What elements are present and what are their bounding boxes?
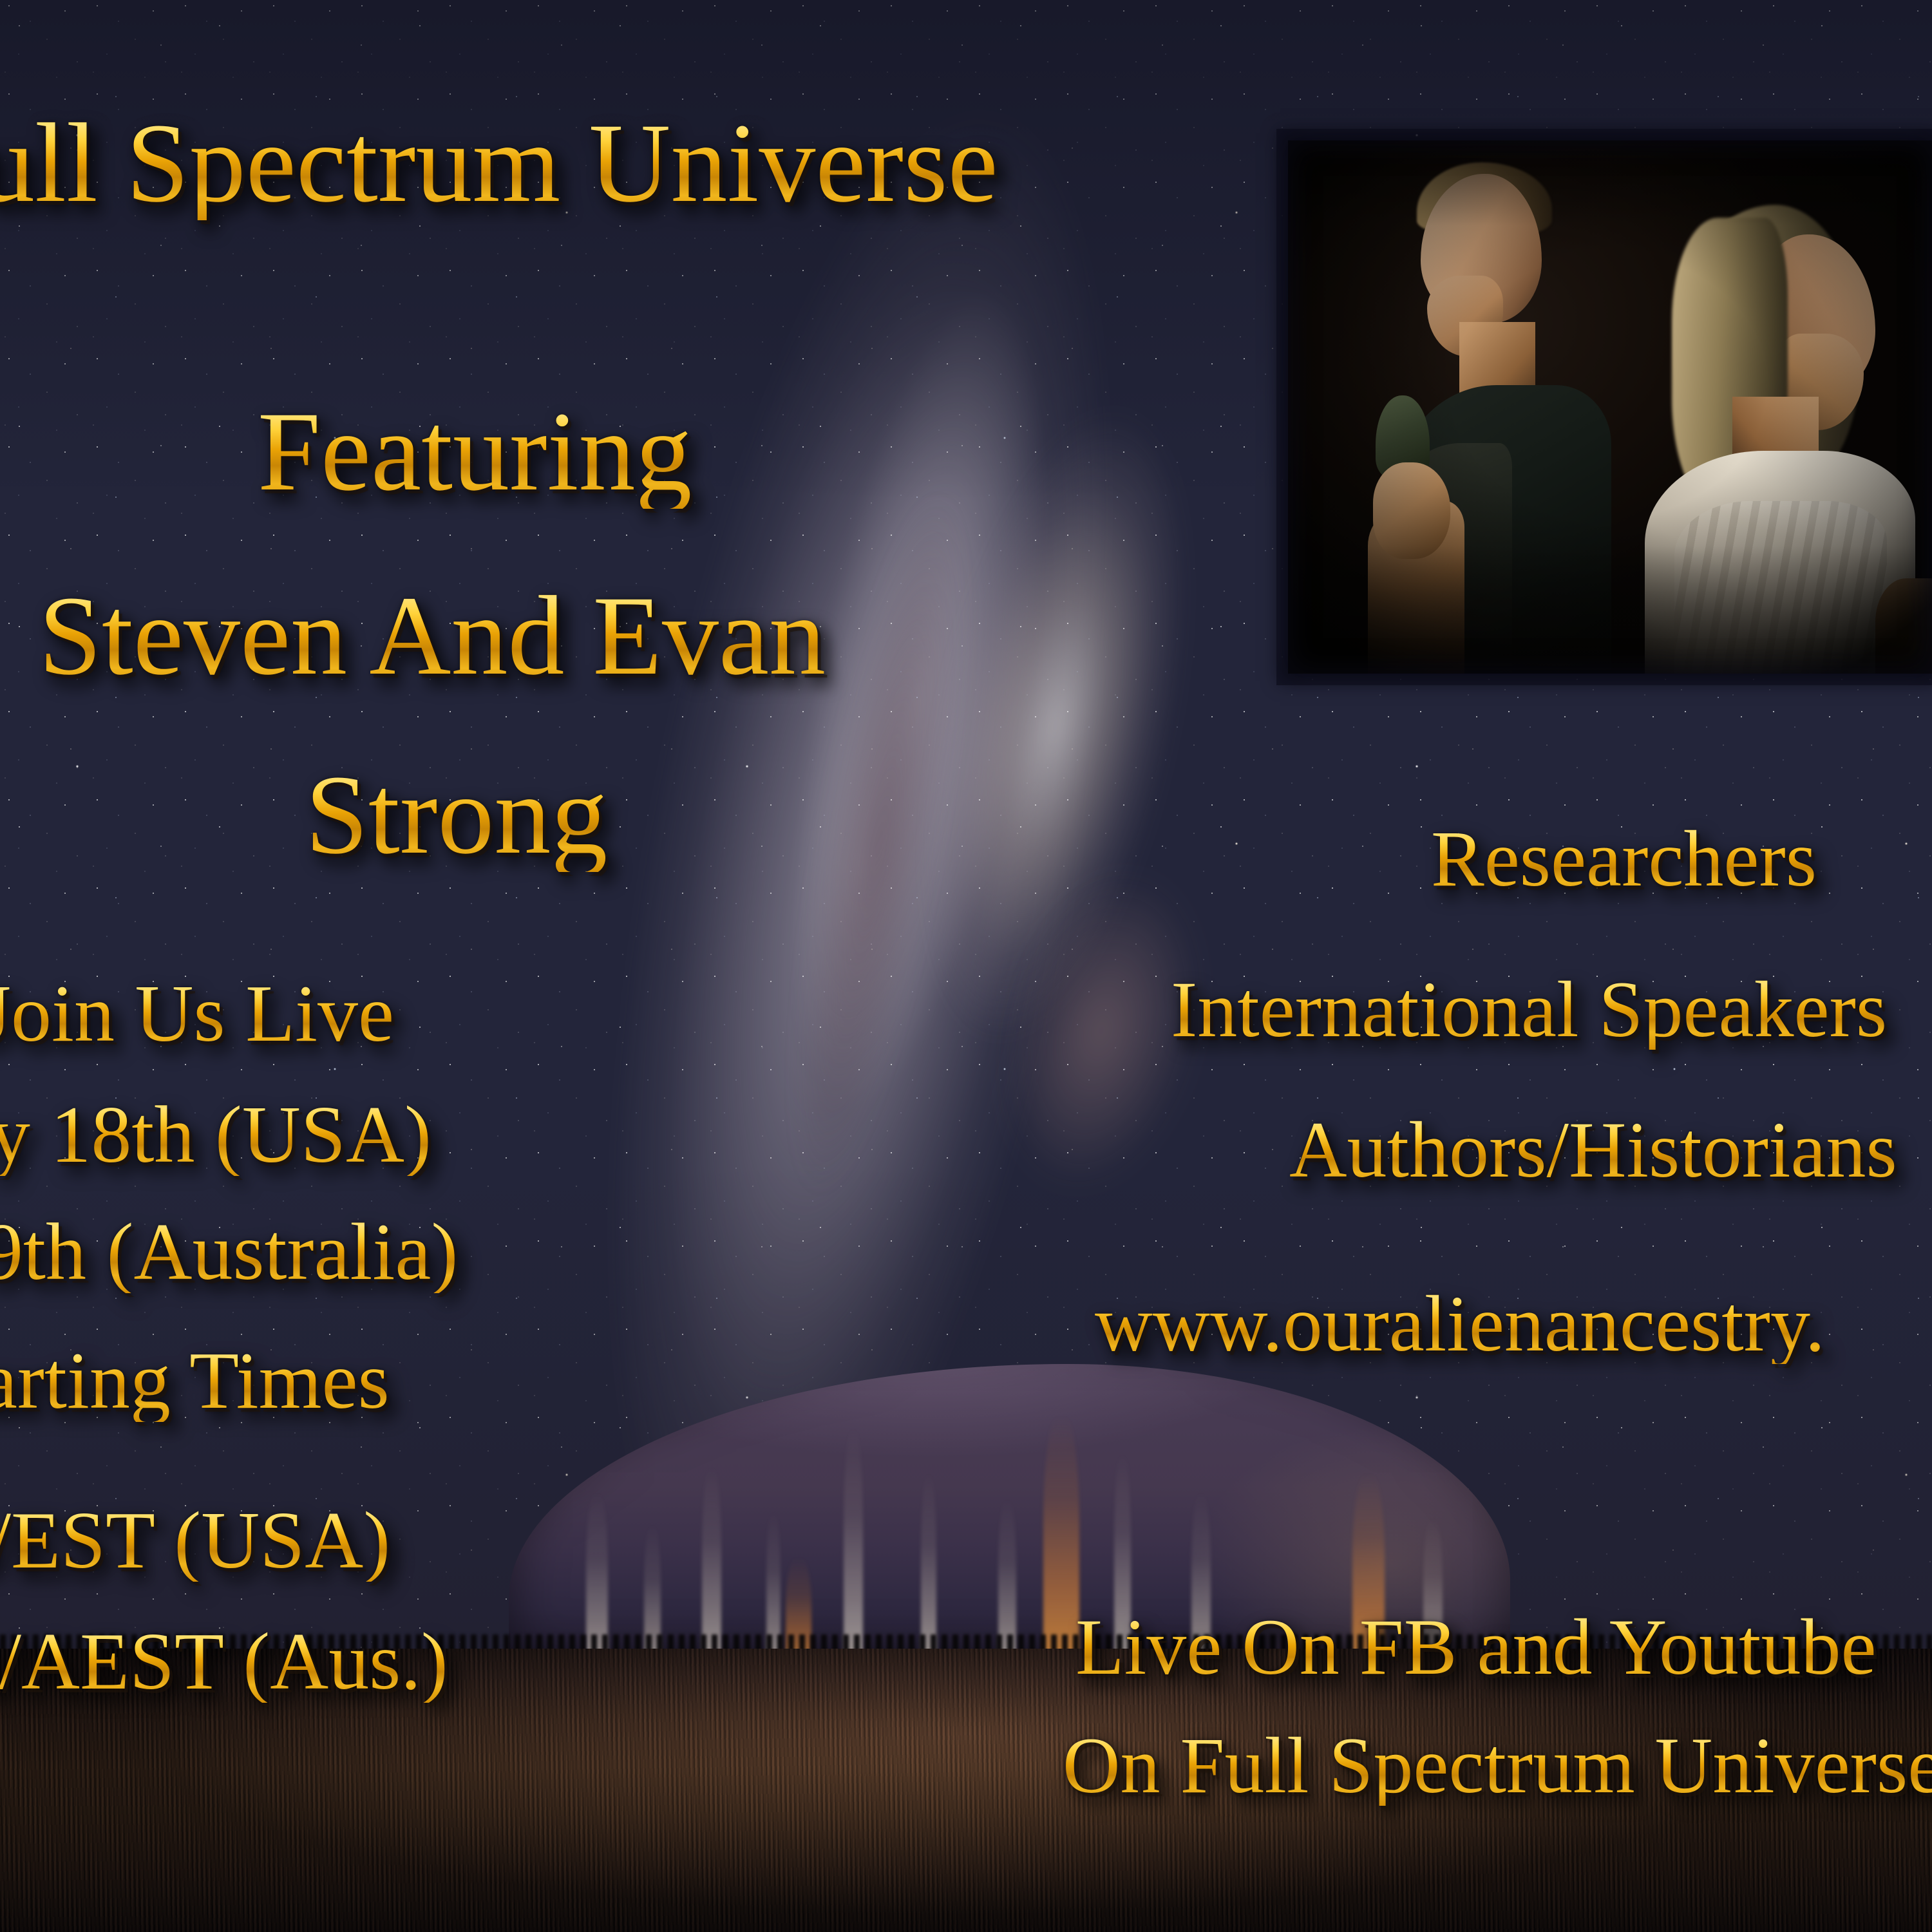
event-date-australia: 19th (Australia) — [0, 1212, 458, 1293]
join-us-live-label: Join Us Live — [0, 974, 394, 1055]
event-promo-poster: ull Spectrum Universe Featuring Steven A… — [0, 0, 1932, 1932]
credential-speakers: International Speakers — [1171, 970, 1887, 1050]
speaker-names-line-1: Steven And Evan — [39, 580, 826, 693]
event-date-usa: ay 18th (USA) — [0, 1095, 431, 1176]
speaker-names-line-2: Strong — [305, 759, 607, 872]
speaker-duo-photo — [1288, 140, 1932, 674]
broadcast-platforms: Live On FB and Youtube — [1075, 1607, 1877, 1687]
poster-title: ull Spectrum Universe — [0, 107, 998, 220]
credential-authors: Authors/Historians — [1289, 1110, 1897, 1190]
website-url[interactable]: www.ouralienancestry. — [1095, 1284, 1825, 1364]
credential-researchers: Researchers — [1431, 819, 1817, 899]
start-time-usa: m/EST (USA) — [0, 1501, 390, 1582]
featuring-label: Featuring — [258, 395, 692, 509]
broadcast-channel: On Full Spectrum Universe — [1063, 1726, 1932, 1806]
photo-vignette — [1288, 140, 1932, 674]
starting-times-label: tarting Times — [0, 1341, 390, 1422]
start-time-australia: m/AEST (Aus.) — [0, 1622, 448, 1703]
